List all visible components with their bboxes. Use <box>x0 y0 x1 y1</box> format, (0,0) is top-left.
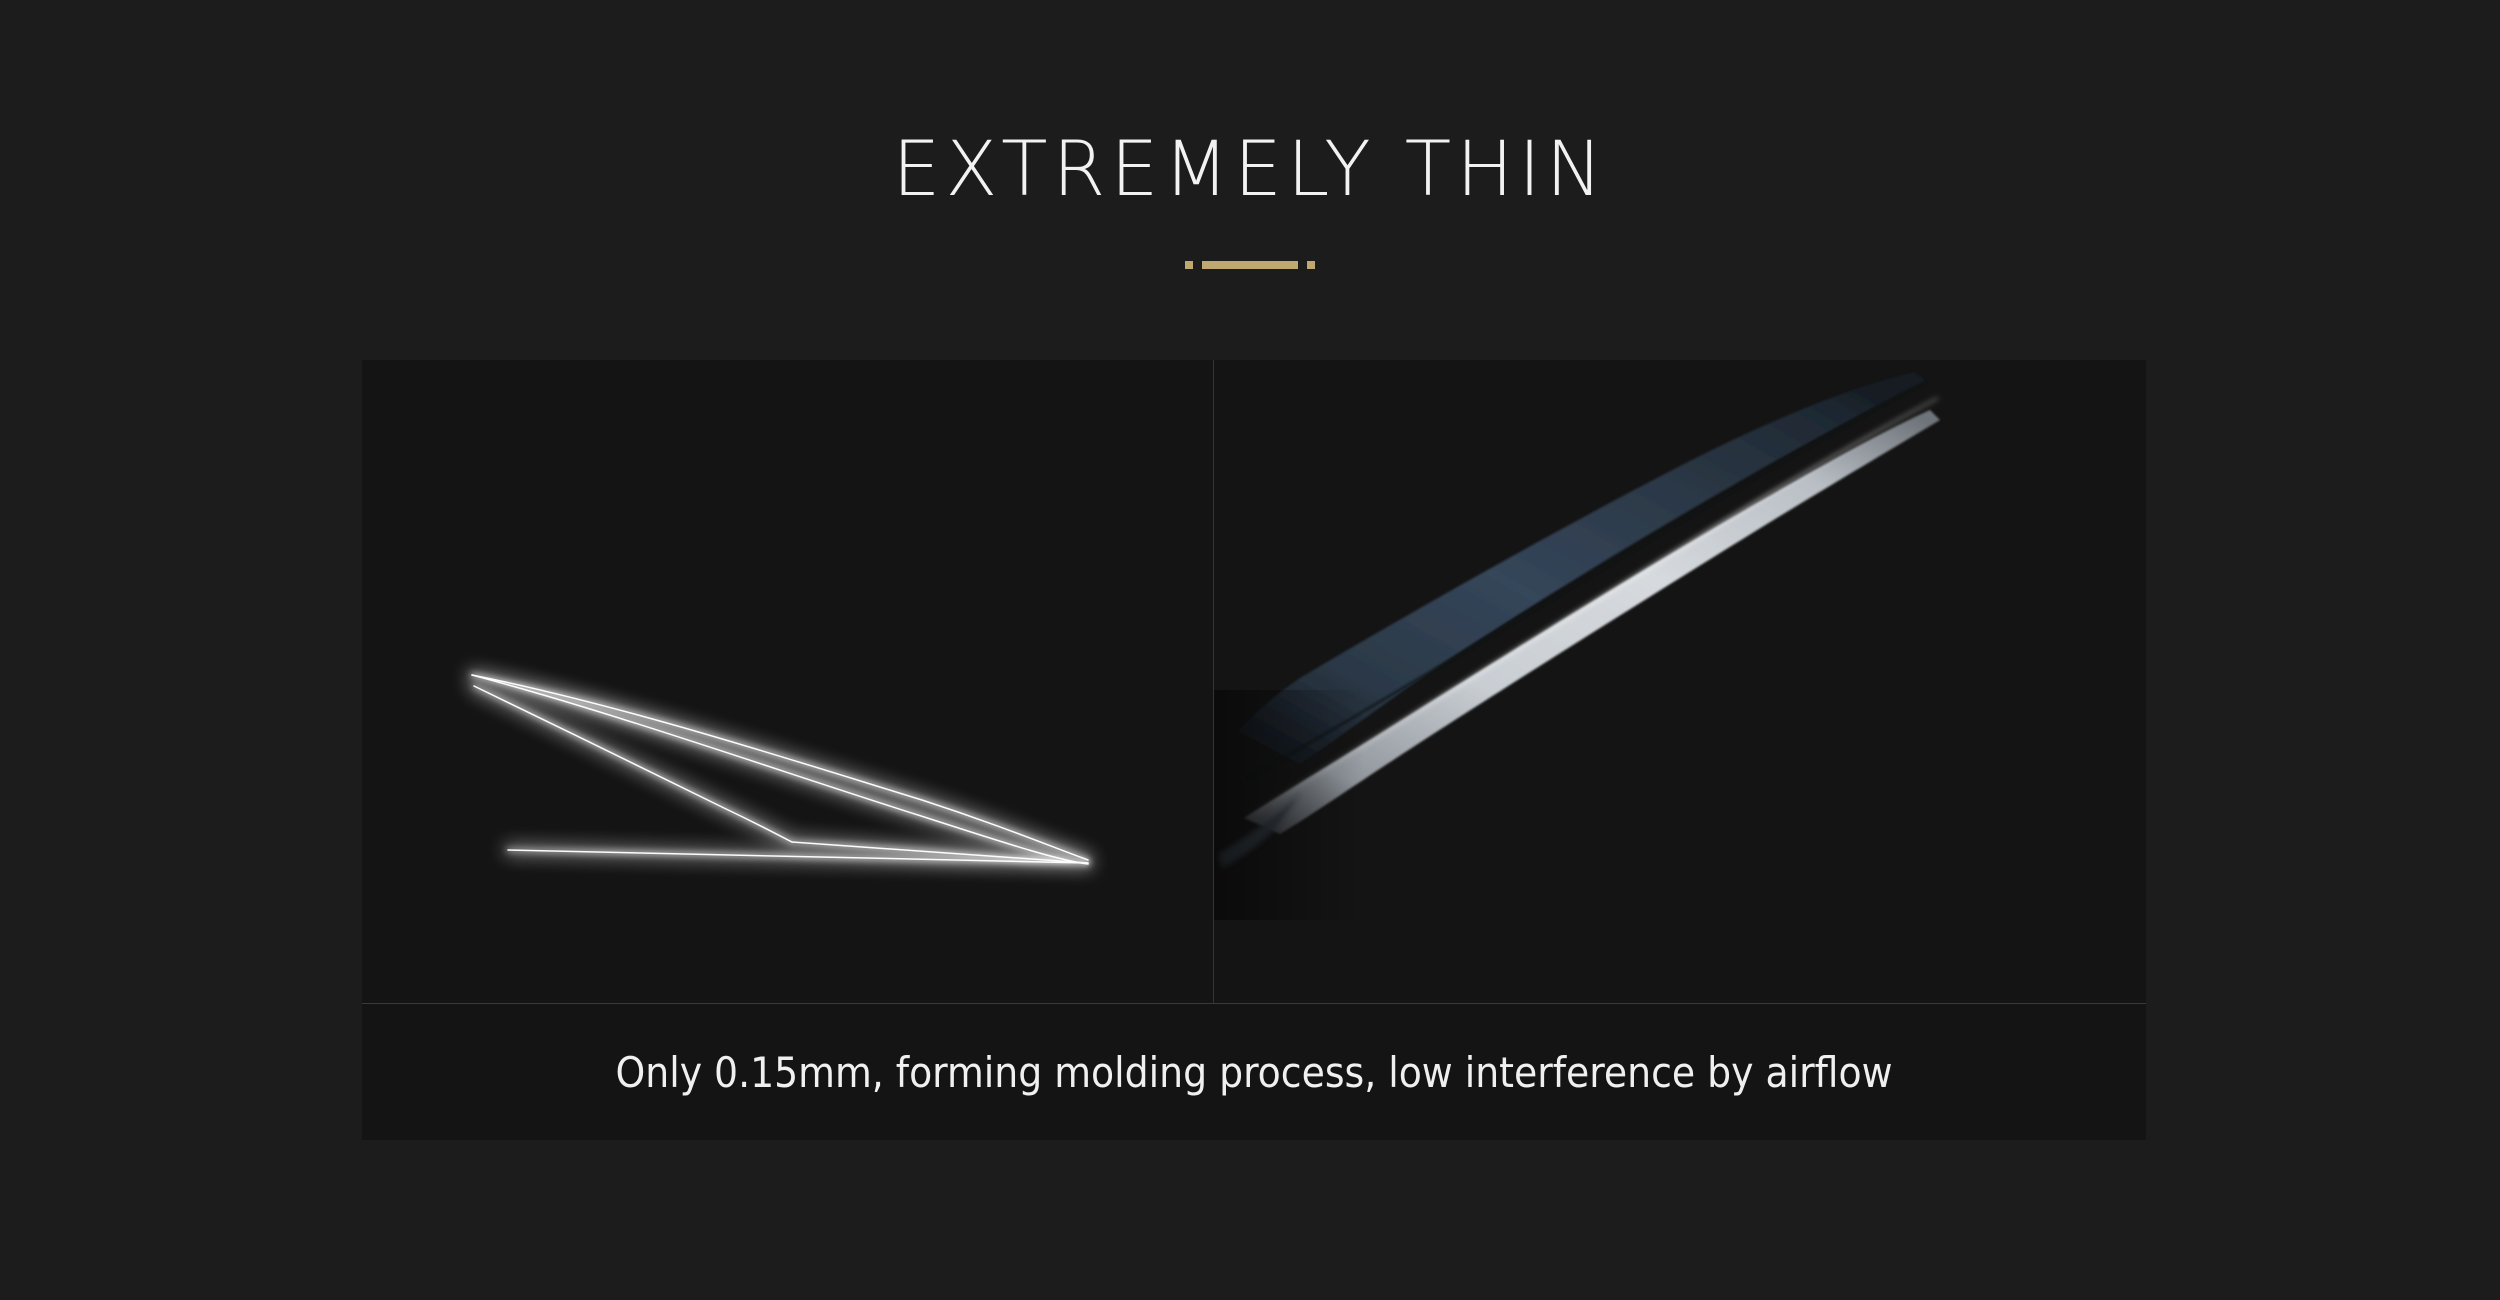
feature-caption: Only 0.15mm, forming molding process, lo… <box>362 1004 2146 1140</box>
root-shadow <box>1214 690 1364 920</box>
panel-rendered-blade <box>1214 360 2146 1003</box>
ornament-divider <box>0 258 2500 272</box>
rendered-blade-illustration <box>1214 360 2146 1003</box>
page-title: EXTREMELY THIN <box>0 128 2500 210</box>
divider-dot-left <box>1185 261 1193 269</box>
feature-card: Only 0.15mm, forming molding process, lo… <box>362 360 2146 1140</box>
panel-wireframe-blade <box>362 360 1214 1003</box>
image-area <box>362 360 2146 1003</box>
panel-vertical-divider <box>1213 360 1214 1003</box>
divider-dot-right <box>1307 261 1315 269</box>
divider-bar <box>1202 261 1298 269</box>
wireframe-blade-illustration <box>362 360 1214 1003</box>
slide-root: EXTREMELY THIN <box>0 0 2500 1300</box>
